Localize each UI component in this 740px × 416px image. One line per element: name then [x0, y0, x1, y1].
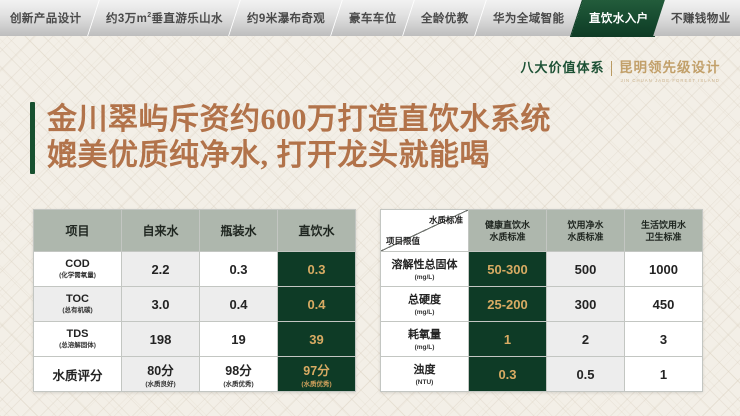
- col-header-item: 项目: [34, 210, 122, 252]
- tables-row: 项目 自来水 瓶装水 直饮水 COD (化学需氧量) 2.2 0.3 0.3: [33, 209, 707, 392]
- cell-oxygen-healthy: 1: [469, 322, 547, 357]
- col-header-line-2: 卫生标准: [645, 232, 681, 242]
- tab-label: 华为全域智能: [493, 10, 564, 26]
- row-label-sub: (总溶解固体): [34, 341, 121, 350]
- col-header-tap: 自来水: [122, 210, 200, 252]
- row-label-hardness: 总硬度 (mg/L): [381, 287, 469, 322]
- cell-turbidity-healthy: 0.3: [469, 357, 547, 392]
- corner-split-header: 水质标准 项目限值: [381, 210, 469, 252]
- row-label-oxygen: 耗氧量 (mg/L): [381, 322, 469, 357]
- slide-root: 创新产品设计 约3万m2垂直游乐山水 约9米瀑布奇观 豪车车位 全龄优教 华为全…: [0, 0, 740, 416]
- row-label-main: 溶解性总固体: [392, 259, 458, 271]
- cell-tds-domestic: 1000: [625, 252, 703, 287]
- headline-accent-bar: [30, 102, 35, 174]
- col-header-line-1: 生活饮用水: [641, 220, 686, 230]
- tab-luxury-parking[interactable]: 豪车车位: [331, 0, 415, 36]
- cell-turbidity-purified: 0.5: [547, 357, 625, 392]
- tab-label: 豪车车位: [349, 10, 397, 26]
- row-label-unit: (mg/L): [381, 308, 468, 317]
- headline-block: 金川翠屿斥资约600万打造直饮水系统 媲美优质纯净水, 打开龙头就能喝: [30, 102, 551, 174]
- cell-value: 97分: [303, 364, 329, 378]
- row-label-main: 总硬度: [408, 294, 441, 306]
- cell-oxygen-purified: 2: [547, 322, 625, 357]
- cell-hardness-purified: 300: [547, 287, 625, 322]
- cell-tds-purified: 500: [547, 252, 625, 287]
- cell-value-sub: (水质优秀): [200, 380, 277, 389]
- table-row: TDS (总溶解固体) 198 19 39: [34, 322, 356, 357]
- table-row: TOC (总有机碳) 3.0 0.4 0.4: [34, 287, 356, 322]
- table-row: 浊度 (NTU) 0.3 0.5 1: [381, 357, 703, 392]
- cell-score-direct: 97分 (水质优秀): [278, 357, 356, 392]
- cell-cod-direct: 0.3: [278, 252, 356, 287]
- tab-label: 直饮水入户: [588, 10, 648, 26]
- row-label-main: COD: [65, 258, 89, 270]
- col-header-purified: 饮用净水 水质标准: [547, 210, 625, 252]
- cell-cod-tap: 2.2: [122, 252, 200, 287]
- cell-tds-bottled: 19: [200, 322, 278, 357]
- cell-cod-bottled: 0.3: [200, 252, 278, 287]
- cell-value: 80分: [147, 364, 173, 378]
- table-header-row: 项目 自来水 瓶装水 直饮水: [34, 210, 356, 252]
- table-row: 总硬度 (mg/L) 25-200 300 450: [381, 287, 703, 322]
- row-label-unit: (mg/L): [381, 343, 468, 352]
- cell-score-bottled: 98分 (水质优秀): [200, 357, 278, 392]
- row-label-turbidity: 浊度 (NTU): [381, 357, 469, 392]
- tab-huawei-smart-home[interactable]: 华为全域智能: [475, 0, 582, 36]
- corner-label-standard: 水质标准: [429, 214, 463, 226]
- col-header-direct: 直饮水: [278, 210, 356, 252]
- tab-label: 不赚钱物业: [671, 10, 731, 26]
- brand-tagline-group: 昆明领先级设计 JIN CHUAN JADE FOREST ISLAND: [618, 60, 722, 83]
- col-header-domestic: 生活饮用水 卫生标准: [625, 210, 703, 252]
- water-standards-table: 水质标准 项目限值 健康直饮水 水质标准 饮用净水 水质标准 生活饮用水 卫生标…: [380, 209, 703, 392]
- row-label-main: 耗氧量: [408, 329, 441, 341]
- row-label-main: 浊度: [414, 364, 436, 376]
- tab-innovative-product-design[interactable]: 创新产品设计: [0, 0, 99, 36]
- table-row: 溶解性总固体 (mg/L) 50-300 500 1000: [381, 252, 703, 287]
- water-comparison-table: 项目 自来水 瓶装水 直饮水 COD (化学需氧量) 2.2 0.3 0.3: [33, 209, 356, 392]
- corner-label-limit: 项目限值: [386, 235, 420, 247]
- table-row: COD (化学需氧量) 2.2 0.3 0.3: [34, 252, 356, 287]
- cell-score-tap: 80分 (水质良好): [122, 357, 200, 392]
- nav-tabstrip: 创新产品设计 约3万m2垂直游乐山水 约9米瀑布奇观 豪车车位 全龄优教 华为全…: [0, 0, 740, 36]
- brand-tagline: 昆明领先级设计: [619, 60, 721, 76]
- cell-tds-healthy: 50-300: [469, 252, 547, 287]
- col-header-line-2: 水质标准: [567, 232, 603, 242]
- cell-value-sub: (水质优秀): [278, 380, 355, 389]
- brand-divider: [611, 61, 612, 76]
- row-label-toc: TOC (总有机碳): [34, 287, 122, 322]
- row-label-main: TDS: [67, 328, 89, 340]
- row-label-main: TOC: [66, 293, 89, 305]
- table-row: 水质评分 80分 (水质良好) 98分 (水质优秀) 97分 (水质优秀): [34, 357, 356, 392]
- row-label-tds: TDS (总溶解固体): [34, 322, 122, 357]
- col-header-line-1: 饮用净水: [567, 220, 603, 230]
- tab-non-profit-property[interactable]: 不赚钱物业: [653, 0, 740, 36]
- cell-value-sub: (水质良好): [122, 380, 199, 389]
- cell-toc-direct: 0.4: [278, 287, 356, 322]
- row-label-sub: (化学需氧量): [34, 271, 121, 280]
- col-header-healthy-direct: 健康直饮水 水质标准: [469, 210, 547, 252]
- tab-label: 约3万m2垂直游乐山水: [105, 10, 222, 26]
- headline-line-2: 媲美优质纯净水, 打开龙头就能喝: [47, 138, 551, 174]
- cell-toc-bottled: 0.4: [200, 287, 278, 322]
- tab-label: 约9米瀑布奇观: [246, 10, 324, 26]
- cell-tds-direct: 39: [278, 322, 356, 357]
- row-label-sub: (总有机碳): [34, 306, 121, 315]
- row-label-unit: (mg/L): [381, 273, 468, 282]
- row-label-cod: COD (化学需氧量): [34, 252, 122, 287]
- cell-turbidity-domestic: 1: [625, 357, 703, 392]
- row-label-tds: 溶解性总固体 (mg/L): [381, 252, 469, 287]
- tab-label: 创新产品设计: [10, 10, 81, 26]
- row-label-score: 水质评分: [34, 357, 122, 392]
- cell-hardness-healthy: 25-200: [469, 287, 547, 322]
- cell-tds-tap: 198: [122, 322, 200, 357]
- table-header-row: 水质标准 项目限值 健康直饮水 水质标准 饮用净水 水质标准 生活饮用水 卫生标…: [381, 210, 703, 252]
- tab-all-age-education[interactable]: 全龄优教: [403, 0, 487, 36]
- tab-waterfall[interactable]: 约9米瀑布奇观: [229, 0, 343, 36]
- tab-direct-drinking-water[interactable]: 直饮水入户: [571, 0, 665, 36]
- brand-lockup: 八大价值体系 昆明领先级设计 JIN CHUAN JADE FOREST ISL…: [521, 60, 723, 83]
- table-row: 耗氧量 (mg/L) 1 2 3: [381, 322, 703, 357]
- row-label-unit: (NTU): [381, 378, 468, 387]
- tab-label: 全龄优教: [421, 10, 469, 26]
- cell-value: 98分: [225, 364, 251, 378]
- col-header-line-2: 水质标准: [489, 232, 525, 242]
- brand-value-system-label: 八大价值体系: [521, 60, 605, 76]
- row-label-main: 水质评分: [52, 369, 102, 383]
- col-header-line-1: 健康直饮水: [485, 220, 530, 230]
- cell-oxygen-domestic: 3: [625, 322, 703, 357]
- tab-vertical-landscape[interactable]: 约3万m2垂直游乐山水: [88, 0, 241, 36]
- col-header-bottled: 瓶装水: [200, 210, 278, 252]
- headline-text: 金川翠屿斥资约600万打造直饮水系统 媲美优质纯净水, 打开龙头就能喝: [47, 102, 551, 174]
- headline-line-1: 金川翠屿斥资约600万打造直饮水系统: [47, 102, 551, 138]
- cell-hardness-domestic: 450: [625, 287, 703, 322]
- cell-toc-tap: 3.0: [122, 287, 200, 322]
- brand-tagline-en: JIN CHUAN JADE FOREST ISLAND: [620, 78, 719, 83]
